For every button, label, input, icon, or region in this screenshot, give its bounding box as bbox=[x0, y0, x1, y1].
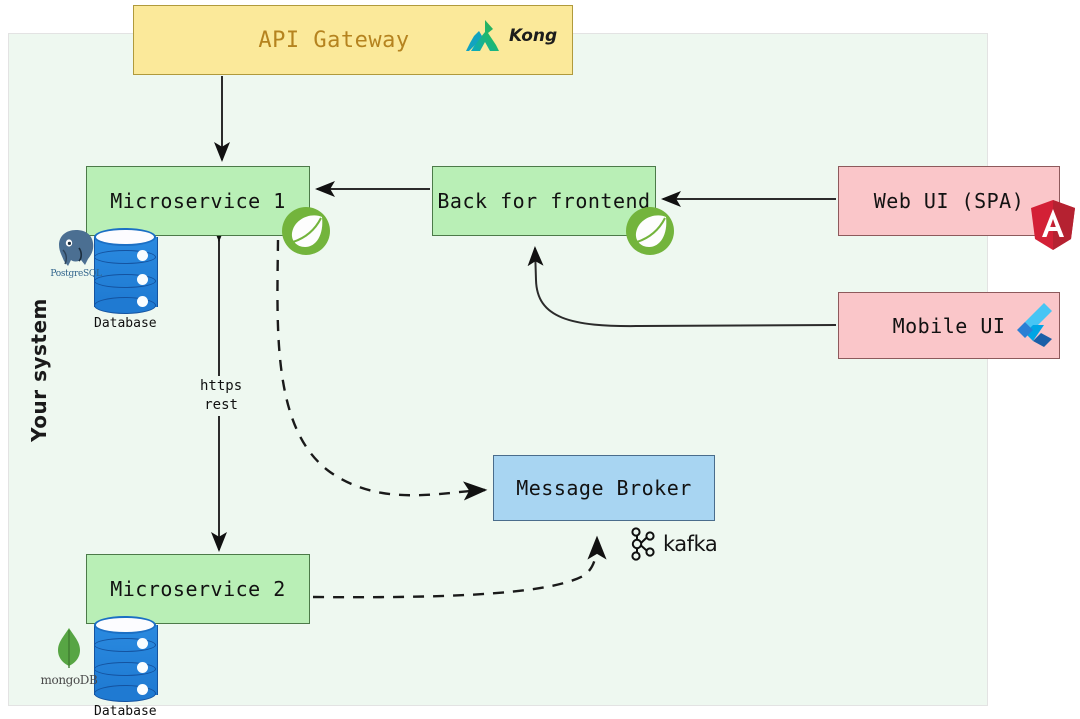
node-web-ui[interactable]: Web UI (SPA) bbox=[838, 166, 1060, 236]
node-message-broker[interactable]: Message Broker bbox=[493, 455, 715, 521]
flutter-logo bbox=[1013, 302, 1053, 348]
node-microservice-2-label: Microservice 2 bbox=[110, 577, 286, 601]
edge-label-https-rest: https rest bbox=[196, 376, 246, 416]
edge-label-https: https bbox=[200, 377, 242, 396]
database-2: Database bbox=[94, 616, 157, 719]
node-message-broker-label: Message Broker bbox=[516, 476, 692, 500]
postgresql-elephant-icon bbox=[55, 228, 97, 268]
node-microservice-1[interactable]: Microservice 1 bbox=[86, 166, 310, 236]
node-microservice-2[interactable]: Microservice 2 bbox=[86, 554, 310, 624]
kafka-nodes-icon bbox=[628, 527, 658, 561]
database-1-caption: Database bbox=[94, 316, 157, 331]
kafka-logo-label: kafka bbox=[663, 532, 717, 556]
database-2-caption: Database bbox=[94, 704, 157, 719]
kong-logo-label: Kong bbox=[509, 26, 557, 46]
node-mobile-ui-label: Mobile UI bbox=[893, 314, 1006, 338]
mongodb-logo-label: mongoDB bbox=[38, 673, 100, 687]
spring-leaf-icon bbox=[281, 206, 331, 256]
spring-leaf-icon bbox=[625, 206, 675, 256]
mongodb-leaf-icon bbox=[55, 628, 83, 670]
mongodb-logo: mongoDB bbox=[38, 628, 100, 687]
system-boundary-label: Your system bbox=[27, 298, 51, 442]
postgresql-logo-label: PostgreSQL bbox=[47, 269, 105, 279]
node-back-for-frontend[interactable]: Back for frontend bbox=[432, 166, 656, 236]
angular-logo bbox=[1030, 200, 1076, 250]
database-cylinder-icon bbox=[94, 616, 156, 702]
node-microservice-1-label: Microservice 1 bbox=[110, 189, 286, 213]
node-api-gateway-label: API Gateway bbox=[258, 28, 409, 53]
spring-boot-logo-ms1 bbox=[281, 206, 331, 256]
node-web-ui-label: Web UI (SPA) bbox=[874, 189, 1025, 213]
kong-logo: Kong bbox=[466, 18, 557, 54]
kong-glyph-icon bbox=[466, 18, 504, 54]
flutter-chevron-icon bbox=[1013, 302, 1053, 348]
kafka-logo: kafka bbox=[628, 527, 717, 561]
diagram-canvas: Your system bbox=[0, 0, 1080, 711]
postgresql-logo: PostgreSQL bbox=[47, 228, 105, 279]
angular-shield-icon bbox=[1030, 200, 1076, 250]
node-back-for-frontend-label: Back for frontend bbox=[437, 189, 650, 213]
edge-label-rest: rest bbox=[200, 396, 242, 415]
spring-boot-logo-bff bbox=[625, 206, 675, 256]
